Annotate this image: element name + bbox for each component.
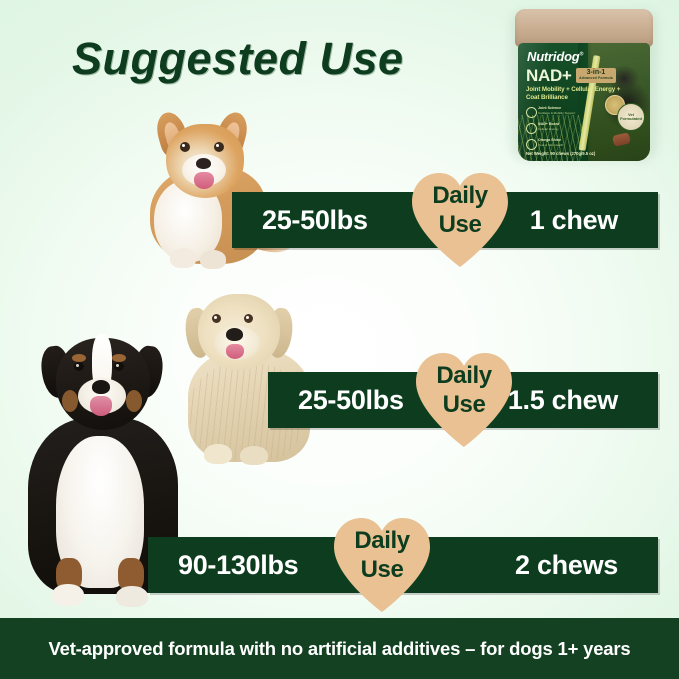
jar-benefit-item: Omega Shine Coat & Skin Health — [526, 138, 588, 151]
bernese-brow-left — [72, 354, 86, 362]
benefit-subtitle: Coat & Skin Health — [538, 143, 563, 147]
product-jar-image: Nutridog® NAD+ 3-in-1 Advanced Formula J… — [505, 3, 663, 165]
corgi-paw-right — [200, 250, 226, 269]
dosage-weight-range: 25-50lbs — [262, 192, 368, 248]
three-in-one-badge: 3-in-1 Advanced Formula — [576, 68, 616, 83]
golden-paw-right — [240, 446, 268, 465]
bernese-paw-left — [52, 584, 84, 606]
golden-tongue — [226, 344, 244, 359]
dosage-amount: 1 chew — [530, 192, 618, 248]
corgi-tongue — [194, 172, 214, 189]
brand-text: Nutridog — [527, 49, 580, 64]
corgi-eye-right — [214, 142, 224, 152]
jar-benefit-item: Joint Science Cartilage & Mobility Suppo… — [526, 106, 588, 119]
page-title: Suggested Use — [72, 33, 404, 85]
bernese-eye-left — [74, 362, 84, 371]
bernese-cheek-left — [62, 390, 78, 412]
daily-use-heart-1: Daily Use — [408, 170, 512, 268]
seal-label: Vet Formulated — [620, 113, 642, 121]
golden-eye-right — [244, 314, 253, 323]
bernese-eye-right — [114, 362, 124, 371]
bernese-cheek-right — [126, 390, 142, 412]
golden-paw-left — [204, 444, 232, 464]
daily-use-heart-2: Daily Use — [412, 350, 516, 448]
vet-formulated-seal-icon: Vet Formulated — [617, 103, 645, 131]
corgi-paw-left — [170, 248, 196, 268]
daily-use-label: Daily Use — [330, 526, 434, 584]
benefit-subtitle: Cellular Energy — [538, 127, 559, 131]
dosage-amount: 2 chews — [515, 537, 618, 593]
product-name: NAD+ — [526, 66, 572, 86]
product-subtitle-line-2: Coat Brilliance — [526, 94, 568, 101]
badge-bottom-text: Advanced Formula — [576, 76, 616, 81]
bone-icon — [526, 107, 537, 118]
footer-text: Vet-approved formula with no artificial … — [0, 618, 679, 679]
suggested-use-infographic: Suggested Use Nutridog® NAD+ 3-in-1 Adva… — [0, 0, 679, 679]
daily-use-line-1: Daily — [330, 526, 434, 555]
net-weight-text: Net Weight: 90 chews (270g/9.5 oz) — [526, 151, 595, 156]
corgi-nose — [196, 158, 211, 169]
bernese-brow-right — [112, 354, 126, 362]
golden-eye-left — [212, 314, 221, 323]
daily-use-heart-3: Daily Use — [330, 515, 434, 613]
daily-use-line-1: Daily — [408, 181, 512, 210]
droplet-icon — [526, 139, 537, 150]
daily-use-line-1: Daily — [412, 361, 516, 390]
energy-icon — [526, 123, 537, 134]
badge-top-text: 3-in-1 — [576, 69, 616, 76]
brand-name: Nutridog® — [527, 49, 583, 64]
daily-use-label: Daily Use — [408, 181, 512, 239]
dosage-amount: 1.5 chew — [508, 372, 618, 428]
daily-use-label: Daily Use — [412, 361, 516, 419]
bernese-paw-right — [116, 586, 148, 607]
registered-mark-icon: ® — [580, 52, 583, 58]
product-subtitle-line-1: Joint Mobility + Cellular Energy + — [526, 86, 620, 93]
bernese-nose — [92, 380, 110, 394]
dosage-weight-range: 25-50lbs — [298, 372, 404, 428]
jar-lid — [515, 9, 653, 47]
benefit-subtitle: Cartilage & Mobility Support — [538, 111, 575, 115]
jar-benefit-item: NAD+ Boost Cellular Energy — [526, 122, 588, 135]
bernese-tongue — [90, 396, 112, 416]
jar-label: Nutridog® NAD+ 3-in-1 Advanced Formula J… — [518, 43, 650, 161]
golden-nose — [226, 328, 243, 341]
daily-use-line-2: Use — [330, 555, 434, 584]
jar-benefit-list: Joint Science Cartilage & Mobility Suppo… — [526, 106, 588, 154]
daily-use-line-2: Use — [412, 390, 516, 419]
dosage-weight-range: 90-130lbs — [178, 537, 298, 593]
corgi-eye-left — [180, 142, 190, 152]
daily-use-line-2: Use — [408, 210, 512, 239]
footer-banner: Vet-approved formula with no artificial … — [0, 618, 679, 679]
